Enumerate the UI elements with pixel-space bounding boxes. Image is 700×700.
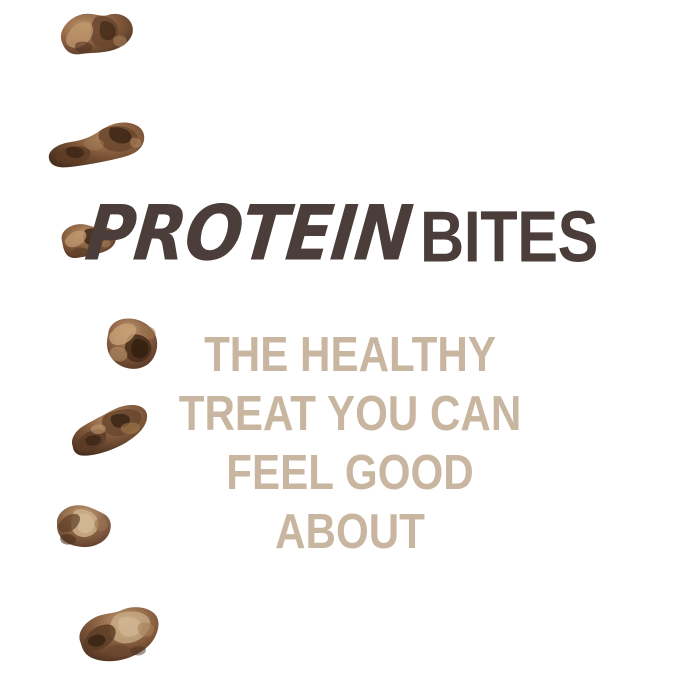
bite-piece-2 — [45, 107, 149, 179]
subtitle: THE HEALTHY TREAT YOU CAN FEEL GOOD ABOU… — [0, 326, 700, 562]
subtitle-line-2: TREAT YOU CAN — [49, 385, 651, 444]
poster-canvas: PROTEIN BITES THE HEALTHY TREAT YOU CAN … — [0, 0, 700, 700]
headline: PROTEIN BITES — [0, 196, 700, 282]
subtitle-line-1: THE HEALTHY — [49, 326, 651, 385]
headline-script-word: PROTEIN — [82, 197, 429, 273]
bite-piece-7 — [74, 602, 163, 666]
subtitle-line-4: ABOUT — [49, 503, 651, 562]
subtitle-line-3: FEEL GOOD — [49, 444, 651, 503]
headline-bold-word: BITES — [420, 201, 598, 273]
bite-piece-1 — [53, 5, 136, 62]
